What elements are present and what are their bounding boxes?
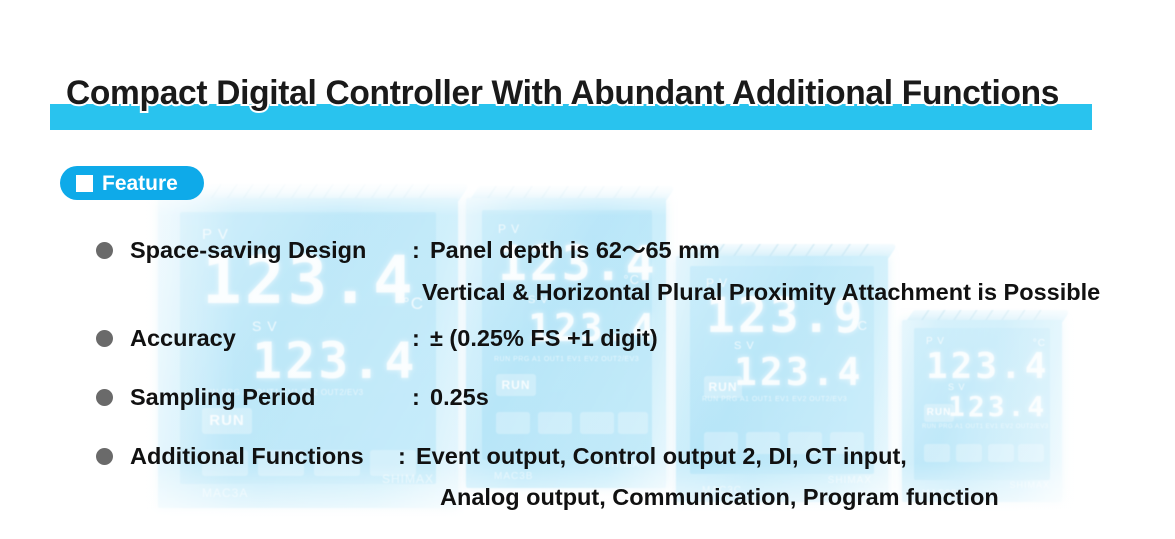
list-item: Space-saving Design : Panel depth is 62〜… (0, 234, 1175, 268)
list-item: Accuracy : ± (0.25% FS +1 digit) (0, 322, 1175, 356)
case-top (162, 184, 470, 202)
feature-continuation: Analog output, Communication, Program fu… (440, 481, 999, 513)
status-indicators: RUN PRG A1 OUT1 EV1 EV2 OUT2/EV3 (494, 356, 639, 363)
white-square-icon (76, 175, 93, 192)
list-item: Sampling Period : 0.25s (0, 381, 1175, 415)
list-item: Additional Functions : Event output, Con… (0, 440, 1175, 474)
feature-label: Additional Functions (130, 440, 364, 472)
case-top (469, 186, 676, 201)
feature-badge-label: Feature (102, 173, 178, 194)
key-left (538, 412, 572, 434)
feature-label: Sampling Period (130, 381, 315, 413)
key-up (618, 412, 648, 434)
feature-label: Space-saving Design (130, 234, 366, 266)
bullet-dot-icon (96, 330, 113, 347)
feature-value: Event output, Control output 2, DI, CT i… (416, 440, 907, 472)
key-disp (496, 412, 530, 434)
feature-separator: : (412, 234, 420, 266)
feature-continuation: Vertical & Horizontal Plural Proximity A… (422, 276, 1100, 308)
feature-value: 0.25s (430, 381, 489, 413)
feature-label: Accuracy (130, 322, 236, 354)
status-indicators: RUN PRG A1 OUT1 EV1 EV2 OUT2/EV3 (922, 424, 1049, 430)
list-item-continuation: Analog output, Communication, Program fu… (0, 481, 1175, 515)
feature-separator: : (412, 381, 420, 413)
feature-separator: : (398, 440, 406, 472)
bullet-dot-icon (96, 448, 113, 465)
bullet-dot-icon (96, 389, 113, 406)
page-title: Compact Digital Controller With Abundant… (66, 74, 1110, 113)
slide-root: P V 123.4 °C S V 123.4 RUN PRG A1 OUT1 E… (0, 0, 1175, 539)
key-down (580, 412, 614, 434)
feature-separator: : (412, 322, 420, 354)
feature-value: ± (0.25% FS +1 digit) (430, 322, 658, 354)
list-item-continuation: Vertical & Horizontal Plural Proximity A… (0, 276, 1175, 310)
feature-value: Panel depth is 62〜65 mm (430, 234, 720, 266)
bullet-dot-icon (96, 242, 113, 259)
feature-badge: Feature (60, 166, 204, 200)
